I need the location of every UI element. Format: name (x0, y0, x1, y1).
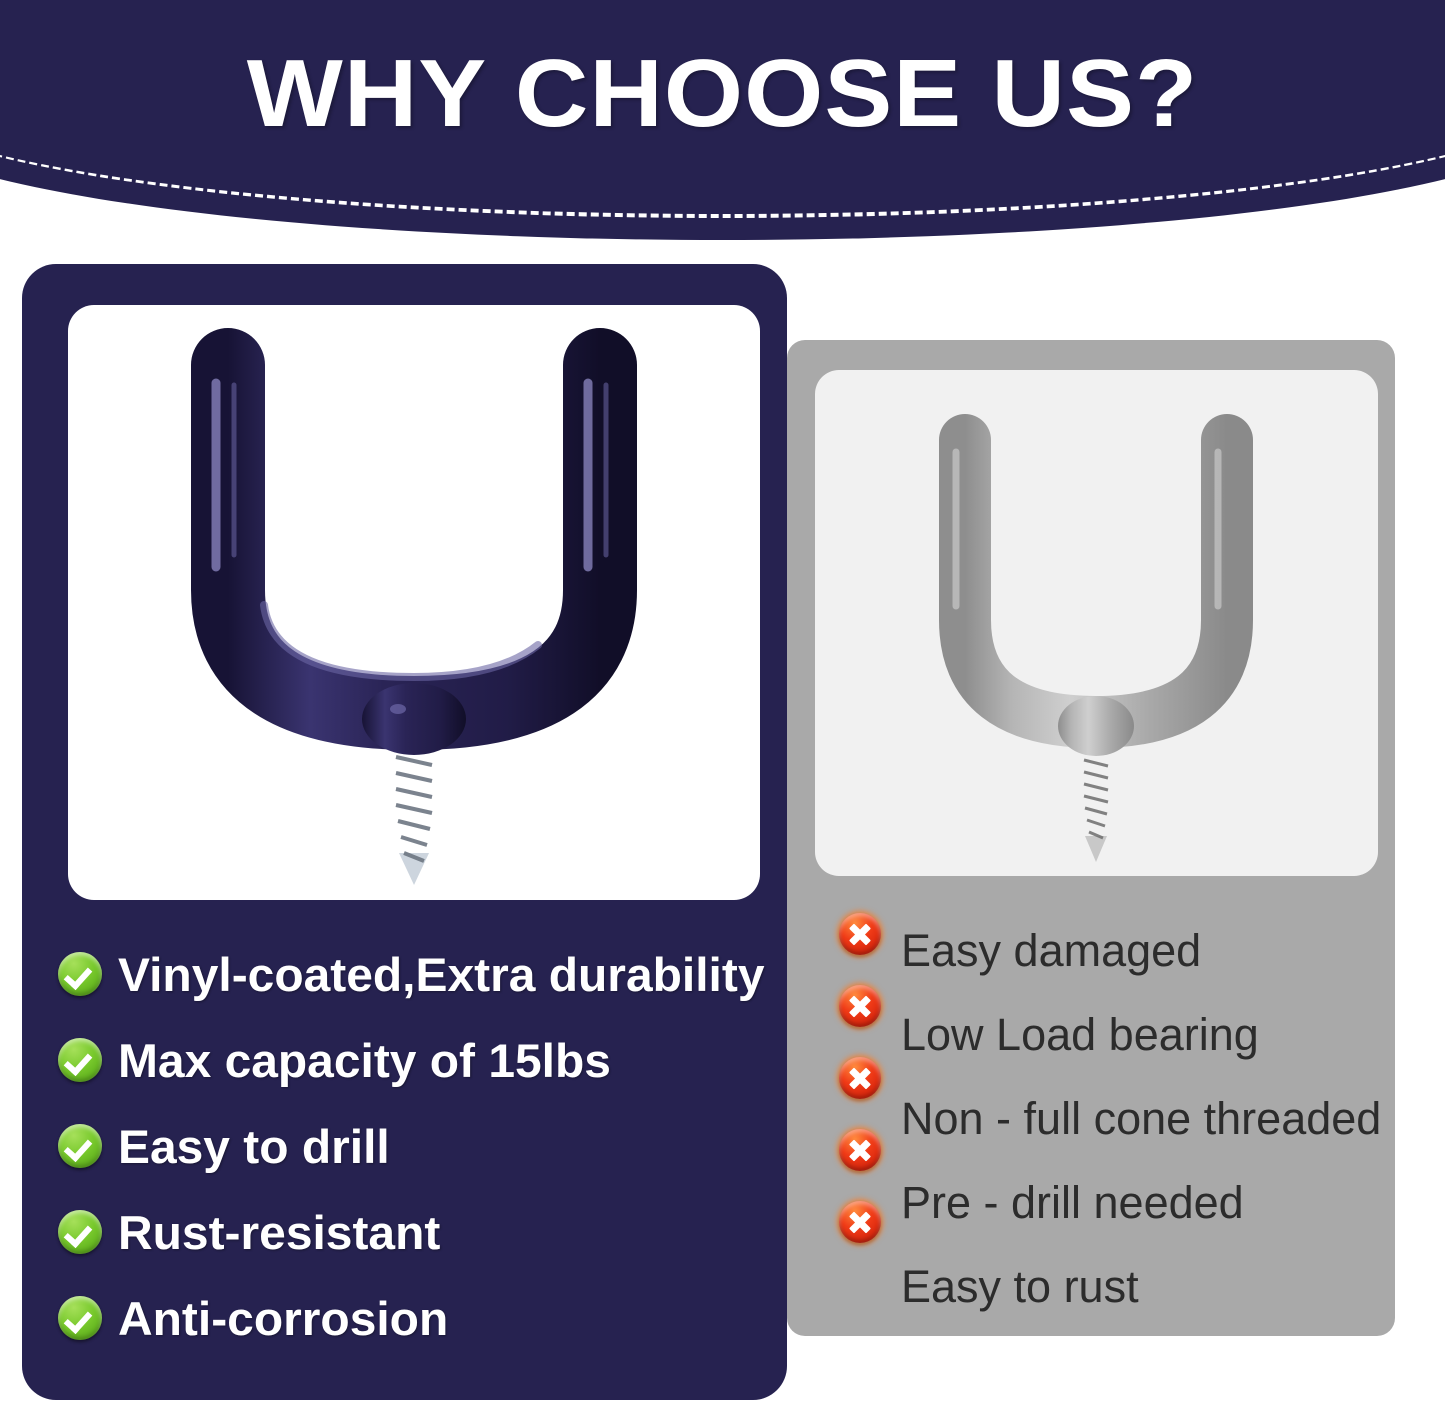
list-item-label: Anti-corrosion (118, 1294, 448, 1344)
list-item: Rust-resistant (58, 1210, 788, 1296)
list-item-label: Vinyl-coated,Extra durability (118, 950, 764, 1000)
list-item: Pre - drill needed (839, 1129, 1395, 1201)
list-item: Easy to rust (839, 1201, 1395, 1273)
list-item: Vinyl-coated,Extra durability (58, 952, 788, 1038)
our-product-photo (68, 305, 760, 900)
list-item: Non - full cone threaded (839, 1057, 1395, 1129)
list-item: Anti-corrosion (58, 1296, 788, 1382)
list-item: Easy to drill (58, 1124, 788, 1210)
our-product-panel: Vinyl-coated,Extra durability Max capaci… (22, 264, 787, 1400)
green-check-icon (58, 952, 102, 996)
competitor-product-photo (815, 370, 1378, 876)
list-item: Max capacity of 15lbs (58, 1038, 788, 1124)
list-item-label: Low Load bearing (901, 1011, 1259, 1059)
list-item-label: Easy to rust (901, 1263, 1139, 1311)
red-cross-icon (839, 1057, 881, 1099)
competitor-panel: Easy damaged Low Load bearing Non - full… (787, 340, 1395, 1336)
competitor-drawback-list: Easy damaged Low Load bearing Non - full… (839, 913, 1395, 1273)
infographic-canvas: WHY CHOOSE US? (0, 0, 1445, 1407)
list-item: Low Load bearing (839, 985, 1395, 1057)
our-product-feature-list: Vinyl-coated,Extra durability Max capaci… (58, 952, 788, 1382)
red-cross-icon (839, 985, 881, 1027)
list-item-label: Max capacity of 15lbs (118, 1036, 611, 1086)
green-check-icon (58, 1038, 102, 1082)
green-check-icon (58, 1296, 102, 1340)
list-item-label: Easy to drill (118, 1122, 390, 1172)
page-title: WHY CHOOSE US? (0, 46, 1445, 142)
green-check-icon (58, 1124, 102, 1168)
list-item-label: Rust-resistant (118, 1208, 440, 1258)
navy-hook-illustration (68, 305, 760, 900)
list-item: Easy damaged (839, 913, 1395, 985)
red-cross-icon (839, 1201, 881, 1243)
green-check-icon (58, 1210, 102, 1254)
list-item-label: Easy damaged (901, 927, 1201, 975)
header-banner: WHY CHOOSE US? (0, 0, 1445, 250)
red-cross-icon (839, 1129, 881, 1171)
red-cross-icon (839, 913, 881, 955)
gray-hook-illustration (815, 370, 1378, 876)
